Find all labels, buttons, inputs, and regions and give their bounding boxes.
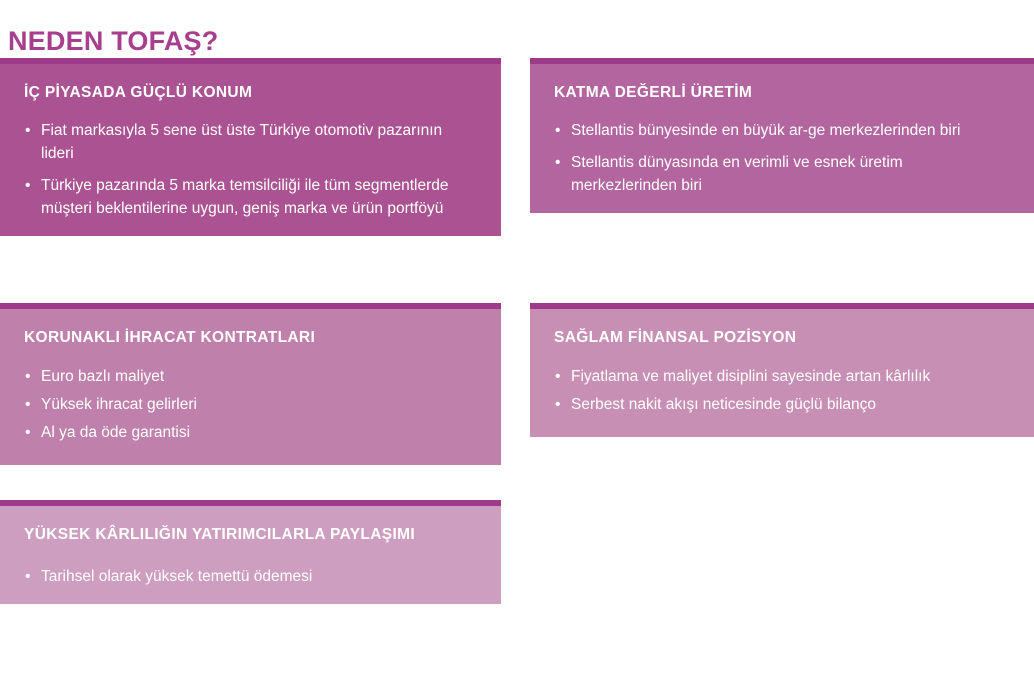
card-yuksek-karliligin-yatirimcilarla-paylasimi[interactable]: YÜKSEK KÂRLILIĞIN YATIRIMCILARLA PAYLAŞI… bbox=[0, 500, 501, 604]
list-item: • Euro bazlı maliyet bbox=[24, 365, 479, 388]
card-body: YÜKSEK KÂRLILIĞIN YATIRIMCILARLA PAYLAŞI… bbox=[0, 506, 501, 604]
list-item-text: Yüksek ihracat gelirleri bbox=[41, 396, 197, 413]
list-item: • Stellantis dünyasında en verimli ve es… bbox=[554, 151, 1012, 197]
card-heading: YÜKSEK KÂRLILIĞIN YATIRIMCILARLA PAYLAŞI… bbox=[24, 524, 479, 545]
list-item: • Serbest nakit akışı neticesinde güçlü … bbox=[554, 393, 1012, 416]
list-item-text: Al ya da öde garantisi bbox=[41, 424, 190, 441]
bullet-dot-icon: • bbox=[25, 565, 30, 588]
card-bullet-list: • Fiyatlama ve maliyet disiplini sayesin… bbox=[554, 365, 1012, 416]
card-heading: İÇ PİYASADA GÜÇLÜ KONUM bbox=[24, 82, 479, 103]
card-bullet-list: • Stellantis bünyesinde en büyük ar-ge m… bbox=[554, 119, 1012, 197]
list-item-text: Tarihsel olarak yüksek temettü ödemesi bbox=[41, 568, 312, 585]
list-item: • Fiat markasıyla 5 sene üst üste Türkiy… bbox=[24, 119, 479, 165]
list-item: • Yüksek ihracat gelirleri bbox=[24, 393, 479, 416]
bullet-dot-icon: • bbox=[555, 365, 560, 388]
card-heading: KATMA DEĞERLİ ÜRETİM bbox=[554, 82, 1012, 103]
list-item-text: Fiat markasıyla 5 sene üst üste Türkiye … bbox=[41, 122, 442, 162]
card-saglam-finansal-pozisyon[interactable]: SAĞLAM FİNANSAL POZİSYON • Fiyatlama ve … bbox=[530, 303, 1034, 437]
list-item: • Fiyatlama ve maliyet disiplini sayesin… bbox=[554, 365, 1012, 388]
card-row-1: İÇ PİYASADA GÜÇLÜ KONUM • Fiat markasıyl… bbox=[0, 58, 1034, 273]
card-body: SAĞLAM FİNANSAL POZİSYON • Fiyatlama ve … bbox=[530, 309, 1034, 437]
card-bullet-list: • Fiat markasıyla 5 sene üst üste Türkiy… bbox=[24, 119, 479, 220]
slide-root: NEDEN TOFAŞ? İÇ PİYASADA GÜÇLÜ KONUM • F… bbox=[0, 0, 1034, 633]
page-title: NEDEN TOFAŞ? bbox=[8, 24, 218, 58]
bullet-dot-icon: • bbox=[25, 365, 30, 388]
list-item: • Tarihsel olarak yüksek temettü ödemesi bbox=[24, 565, 479, 588]
list-item: • Stellantis bünyesinde en büyük ar-ge m… bbox=[554, 119, 1012, 142]
card-body: KORUNAKLI İHRACAT KONTRATLARI • Euro baz… bbox=[0, 309, 501, 465]
bullet-dot-icon: • bbox=[555, 119, 560, 142]
card-bullet-list: • Euro bazlı maliyet • Yüksek ihracat ge… bbox=[24, 365, 479, 444]
list-item-text: Stellantis bünyesinde en büyük ar-ge mer… bbox=[571, 122, 960, 139]
card-bullet-list: • Tarihsel olarak yüksek temettü ödemesi bbox=[24, 565, 479, 588]
list-item-text: Serbest nakit akışı neticesinde güçlü bi… bbox=[571, 396, 876, 413]
list-item-text: Türkiye pazarında 5 marka temsilciliği i… bbox=[41, 177, 448, 217]
card-row-3: YÜKSEK KÂRLILIĞIN YATIRIMCILARLA PAYLAŞI… bbox=[0, 500, 1034, 691]
bullet-dot-icon: • bbox=[25, 174, 30, 197]
list-item: • Türkiye pazarında 5 marka temsilciliği… bbox=[24, 174, 479, 220]
card-korunakli-ihracat-kontratlari[interactable]: KORUNAKLI İHRACAT KONTRATLARI • Euro baz… bbox=[0, 303, 501, 465]
card-heading: KORUNAKLI İHRACAT KONTRATLARI bbox=[24, 327, 479, 348]
list-item-text: Fiyatlama ve maliyet disiplini sayesinde… bbox=[571, 368, 930, 385]
card-heading: SAĞLAM FİNANSAL POZİSYON bbox=[554, 327, 1012, 348]
card-ic-piyasada-guclu-konum[interactable]: İÇ PİYASADA GÜÇLÜ KONUM • Fiat markasıyl… bbox=[0, 58, 501, 236]
bullet-dot-icon: • bbox=[555, 151, 560, 174]
card-row-2: KORUNAKLI İHRACAT KONTRATLARI • Euro baz… bbox=[0, 303, 1034, 468]
list-item: • Al ya da öde garantisi bbox=[24, 421, 479, 444]
card-body: İÇ PİYASADA GÜÇLÜ KONUM • Fiat markasıyl… bbox=[0, 64, 501, 236]
card-body: KATMA DEĞERLİ ÜRETİM • Stellantis bünyes… bbox=[530, 64, 1034, 213]
list-item-text: Stellantis dünyasında en verimli ve esne… bbox=[571, 154, 903, 194]
bullet-dot-icon: • bbox=[25, 421, 30, 444]
bullet-dot-icon: • bbox=[25, 119, 30, 142]
bullet-dot-icon: • bbox=[25, 393, 30, 416]
list-item-text: Euro bazlı maliyet bbox=[41, 368, 164, 385]
bullet-dot-icon: • bbox=[555, 393, 560, 416]
card-katma-degerli-uretim[interactable]: KATMA DEĞERLİ ÜRETİM • Stellantis bünyes… bbox=[530, 58, 1034, 213]
